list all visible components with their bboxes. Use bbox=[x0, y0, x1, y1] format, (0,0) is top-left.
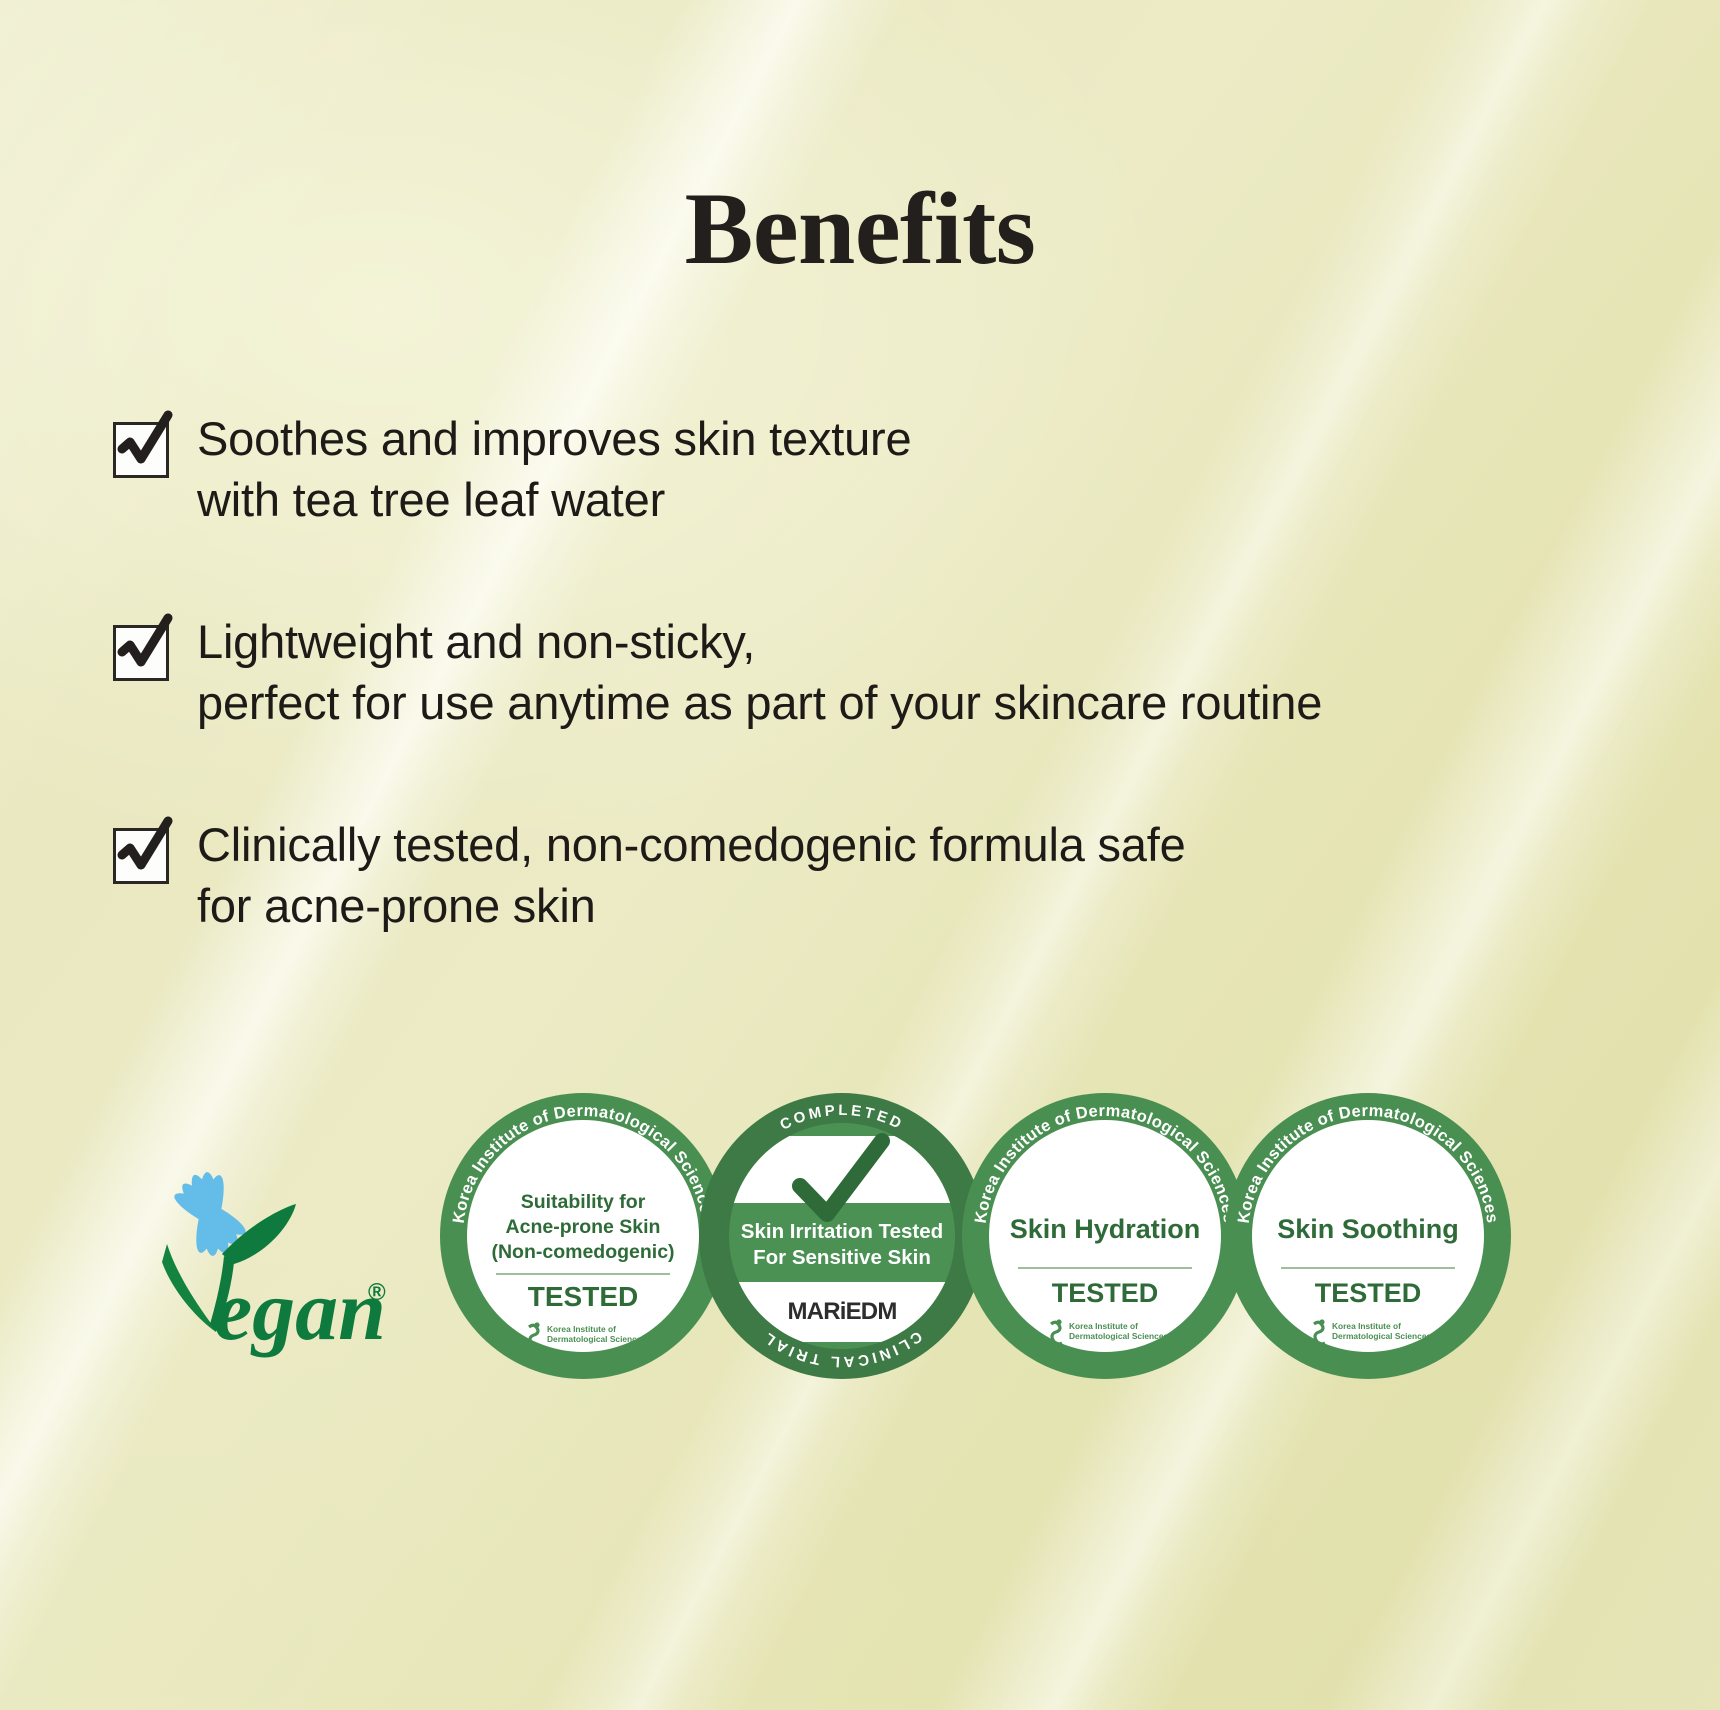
svg-text:Dermatological Sciences: Dermatological Sciences bbox=[1069, 1331, 1168, 1341]
benefit-text: Clinically tested, non-comedogenic formu… bbox=[197, 814, 1186, 936]
page-title: Benefits bbox=[0, 178, 1720, 281]
svg-text:For Sensitive Skin: For Sensitive Skin bbox=[753, 1246, 931, 1269]
seal-status: TESTED bbox=[1052, 1278, 1159, 1308]
seal-status: TESTED bbox=[1315, 1278, 1422, 1308]
svg-text:Dermatological Sciences: Dermatological Sciences bbox=[547, 1334, 646, 1344]
certification-badge-row: egan ® Korea Institute of Dermatological… bbox=[0, 1086, 1720, 1386]
benefit-text: Soothes and improves skin texture with t… bbox=[197, 408, 911, 530]
svg-text:Korea Institute of: Korea Institute of bbox=[1069, 1321, 1138, 1331]
checkbox-checked-icon bbox=[113, 828, 169, 884]
svg-text:Suitability for: Suitability for bbox=[521, 1191, 646, 1213]
svg-text:Dermatological Sciences: Dermatological Sciences bbox=[1332, 1331, 1431, 1341]
seal-skin-hydration: Korea Institute of Dermatological Scienc… bbox=[955, 1086, 1255, 1386]
svg-text:Acne-prone Skin: Acne-prone Skin bbox=[506, 1216, 661, 1238]
svg-text:(Non-comedogenic): (Non-comedogenic) bbox=[491, 1241, 674, 1263]
benefit-item-1: Soothes and improves skin texture with t… bbox=[113, 408, 1633, 530]
svg-text:Korea Institute of: Korea Institute of bbox=[547, 1324, 616, 1334]
benefit-text: Lightweight and non-sticky, perfect for … bbox=[197, 611, 1322, 733]
benefits-list: Soothes and improves skin texture with t… bbox=[113, 408, 1633, 937]
vegan-registered-mark: ® bbox=[368, 1279, 386, 1306]
seal-skin-soothing: Korea Institute of Dermatological Scienc… bbox=[1218, 1086, 1518, 1386]
seal-title: Skin Hydration bbox=[1010, 1214, 1201, 1244]
vegan-certification-logo: egan ® bbox=[110, 1104, 400, 1364]
seal-brand-logo: MARiEDM bbox=[787, 1298, 896, 1325]
seal-skin-irritation: COMPLETED CLINICAL TRIAL Skin Irritation… bbox=[692, 1086, 992, 1386]
vegan-label: egan bbox=[214, 1262, 386, 1358]
benefit-item-3: Clinically tested, non-comedogenic formu… bbox=[113, 814, 1633, 936]
seal-acne-prone: Korea Institute of Dermatological Scienc… bbox=[433, 1086, 733, 1386]
checkbox-checked-icon bbox=[113, 422, 169, 478]
benefit-item-2: Lightweight and non-sticky, perfect for … bbox=[113, 611, 1633, 733]
seal-status: TESTED bbox=[528, 1281, 638, 1312]
checkbox-checked-icon bbox=[113, 625, 169, 681]
svg-text:Korea Institute of: Korea Institute of bbox=[1332, 1321, 1401, 1331]
seal-title: Skin Soothing bbox=[1277, 1214, 1459, 1244]
page-content: Benefits Soothes and improves skin textu… bbox=[0, 0, 1720, 1710]
svg-text:Skin Irritation Tested: Skin Irritation Tested bbox=[741, 1220, 943, 1243]
